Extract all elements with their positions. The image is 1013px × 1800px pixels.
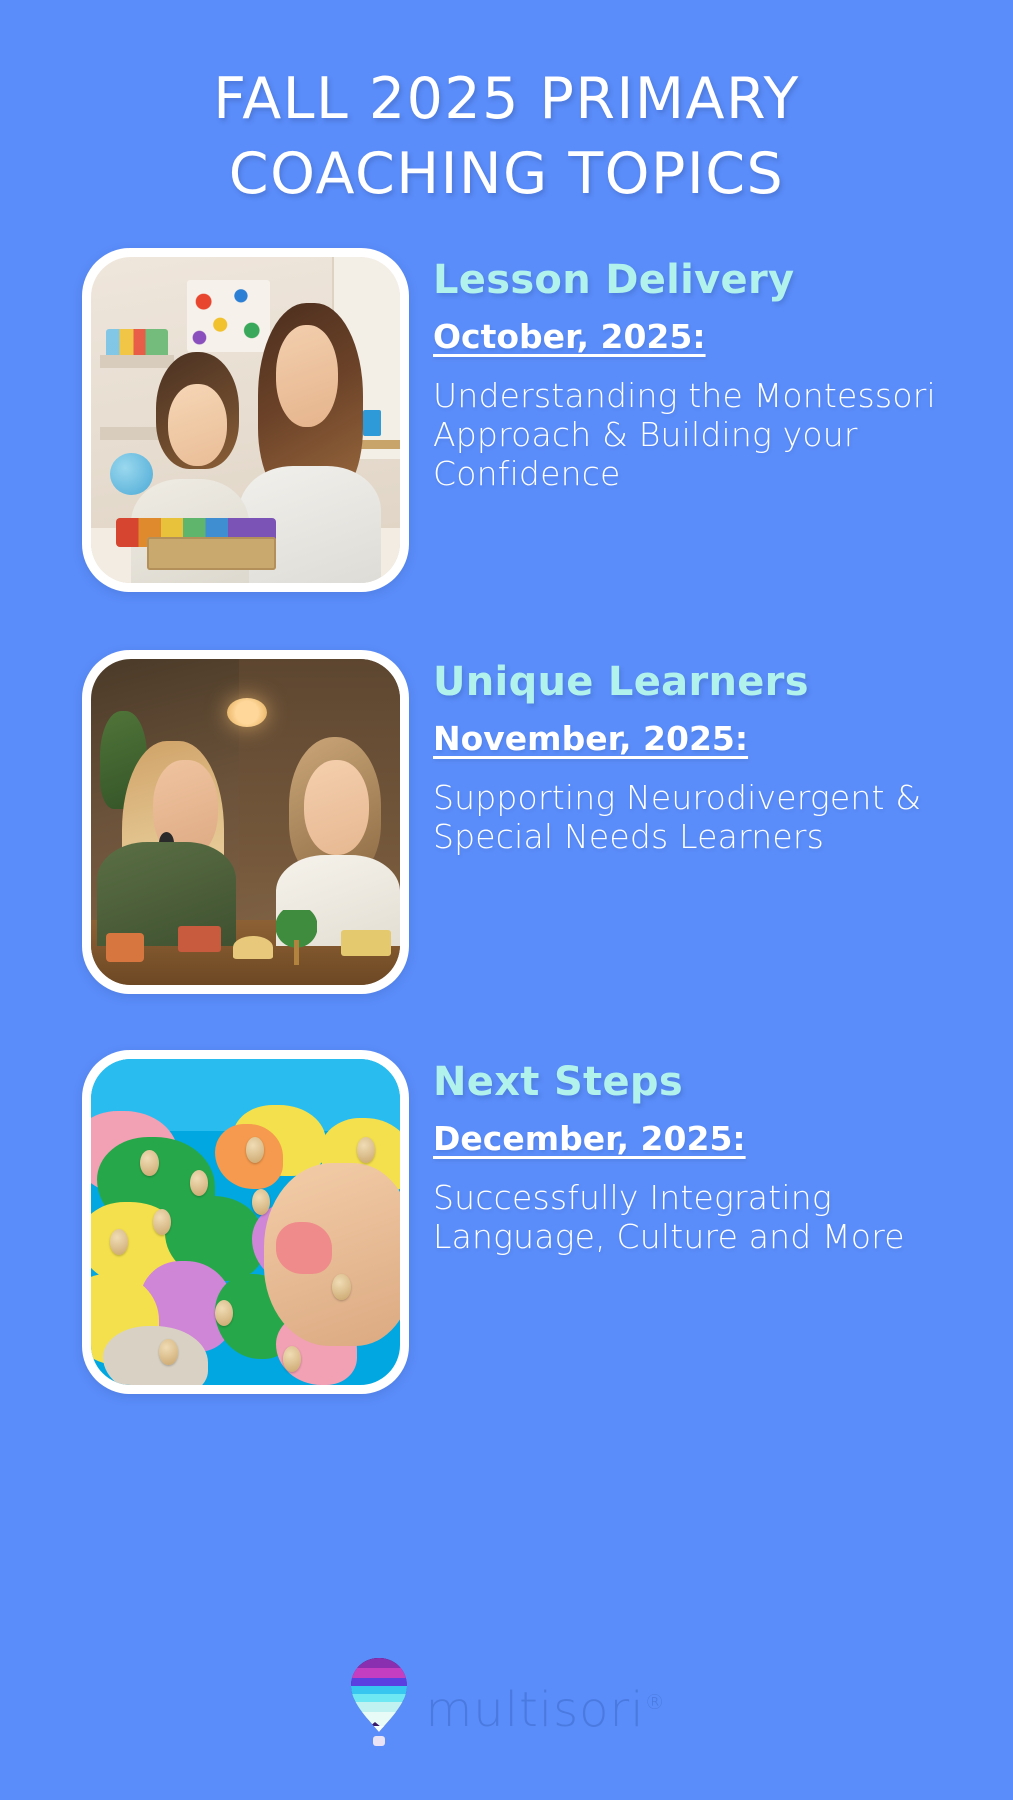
topic-body-2: Supporting Neurodivergent & Special Need… bbox=[433, 778, 963, 856]
brand-name: multisori bbox=[425, 1682, 644, 1738]
infographic-poster: FALL 2025 PRIMARY COACHING TOPICS Lesson… bbox=[0, 0, 1013, 1800]
hot-air-balloon-icon bbox=[347, 1656, 411, 1752]
page-title-line-2: COACHING TOPICS bbox=[60, 137, 953, 212]
topic-date-2: November, 2025: bbox=[433, 718, 963, 760]
brand-wordmark: multisori® bbox=[425, 1676, 665, 1736]
brand-logo: multisori® bbox=[0, 1656, 1013, 1752]
topic-photo-frame-1 bbox=[82, 248, 409, 592]
topic-photo-1 bbox=[91, 257, 400, 583]
topic-text-3: Next Steps December, 2025: Successfully … bbox=[433, 1050, 963, 1256]
page-title-line-1: FALL 2025 PRIMARY bbox=[60, 62, 953, 137]
registered-trademark-symbol: ® bbox=[645, 1690, 666, 1714]
topic-body-3: Successfully Integrating Language, Cultu… bbox=[433, 1178, 963, 1256]
topic-text-1: Lesson Delivery October, 2025: Understan… bbox=[433, 248, 963, 493]
topic-photo-frame-2 bbox=[82, 650, 409, 994]
topic-row-lesson-delivery: Lesson Delivery October, 2025: Understan… bbox=[0, 248, 1013, 592]
topic-body-1: Understanding the Montessori Approach & … bbox=[433, 376, 963, 493]
topic-heading-3: Next Steps bbox=[433, 1058, 963, 1106]
topic-heading-2: Unique Learners bbox=[433, 658, 963, 706]
topic-text-2: Unique Learners November, 2025: Supporti… bbox=[433, 650, 963, 856]
topic-row-unique-learners: Unique Learners November, 2025: Supporti… bbox=[0, 650, 1013, 994]
page-title: FALL 2025 PRIMARY COACHING TOPICS bbox=[0, 62, 1013, 212]
topic-heading-1: Lesson Delivery bbox=[433, 256, 963, 304]
topic-photo-3 bbox=[91, 1059, 400, 1385]
topic-date-1: October, 2025: bbox=[433, 316, 963, 358]
topic-photo-frame-3 bbox=[82, 1050, 409, 1394]
topic-photo-2 bbox=[91, 659, 400, 985]
topic-row-next-steps: Next Steps December, 2025: Successfully … bbox=[0, 1050, 1013, 1394]
topic-date-3: December, 2025: bbox=[433, 1118, 963, 1160]
